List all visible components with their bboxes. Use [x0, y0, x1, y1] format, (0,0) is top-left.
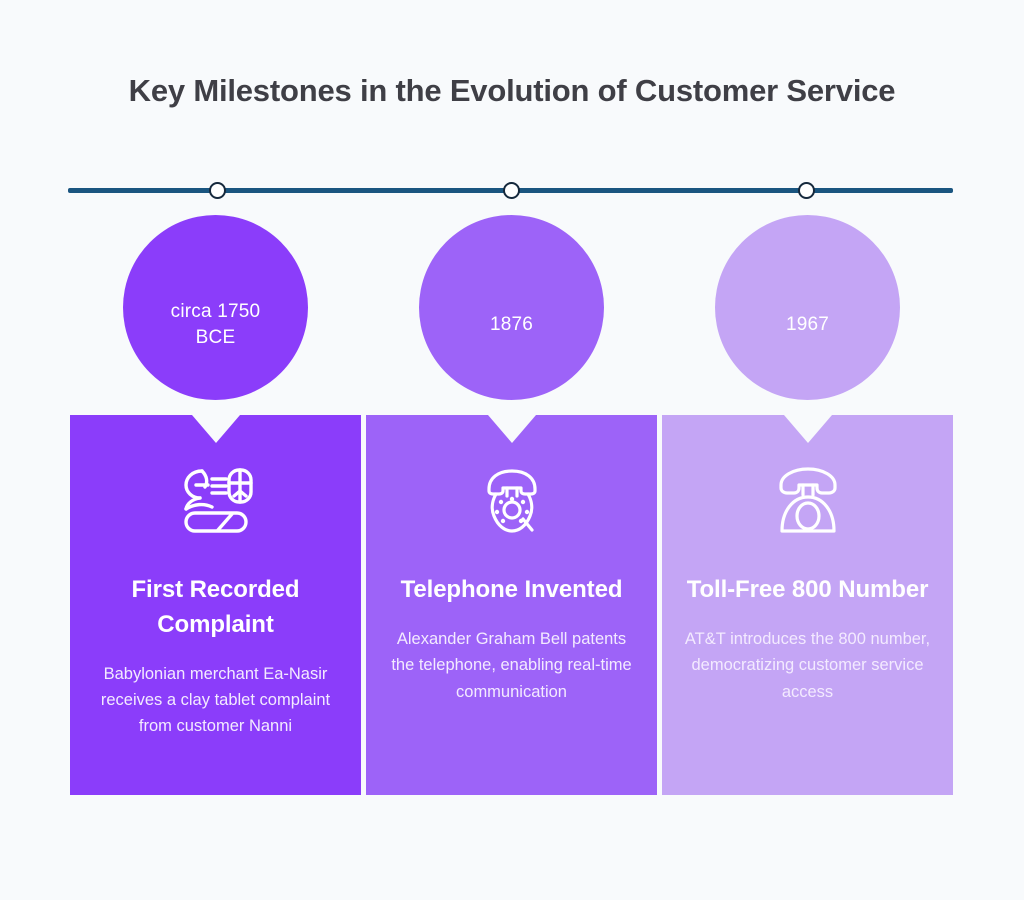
card-notch-2 [488, 415, 536, 443]
date-label-3: 1967 [786, 278, 829, 338]
desk-telephone-icon [766, 463, 850, 539]
milestone-card-3[interactable]: Toll-Free 800 Number AT&T introduces the… [662, 415, 953, 795]
date-label-2: 1876 [490, 278, 533, 338]
milestone-column-1: circa 1750 BCE [70, 215, 361, 795]
timeline-marker-1 [209, 182, 226, 199]
card-notch-1 [192, 415, 240, 443]
clay-tablet-icon [174, 463, 258, 539]
milestone-card-1[interactable]: First Recorded Complaint Babylonian merc… [70, 415, 361, 795]
date-circle-3[interactable]: 1967 [715, 215, 900, 400]
timeline-marker-3 [798, 182, 815, 199]
milestone-card-2[interactable]: Telephone Invented Alexander Graham Bell… [366, 415, 657, 795]
card-title-3: Toll-Free 800 Number [687, 573, 929, 608]
card-notch-3 [784, 415, 832, 443]
date-circle-1[interactable]: circa 1750 BCE [123, 215, 308, 400]
date-label-1: circa 1750 BCE [171, 265, 261, 350]
card-description-2: Alexander Graham Bell patents the teleph… [387, 626, 637, 705]
card-title-1: First Recorded Complaint [84, 573, 347, 643]
card-title-2: Telephone Invented [401, 573, 623, 608]
card-description-1: Babylonian merchant Ea-Nasir receives a … [91, 661, 341, 740]
milestone-columns: circa 1750 BCE [70, 215, 953, 795]
milestone-column-2: 1876 [366, 215, 657, 795]
milestone-column-3: 1967 Toll-Free 800 Number AT&T introduce… [662, 215, 953, 795]
date-circle-2[interactable]: 1876 [419, 215, 604, 400]
rotary-telephone-icon [470, 463, 554, 539]
card-description-3: AT&T introduces the 800 number, democrat… [683, 626, 933, 705]
infographic-page: Key Milestones in the Evolution of Custo… [0, 0, 1024, 900]
page-title: Key Milestones in the Evolution of Custo… [0, 72, 1024, 109]
timeline-marker-2 [503, 182, 520, 199]
